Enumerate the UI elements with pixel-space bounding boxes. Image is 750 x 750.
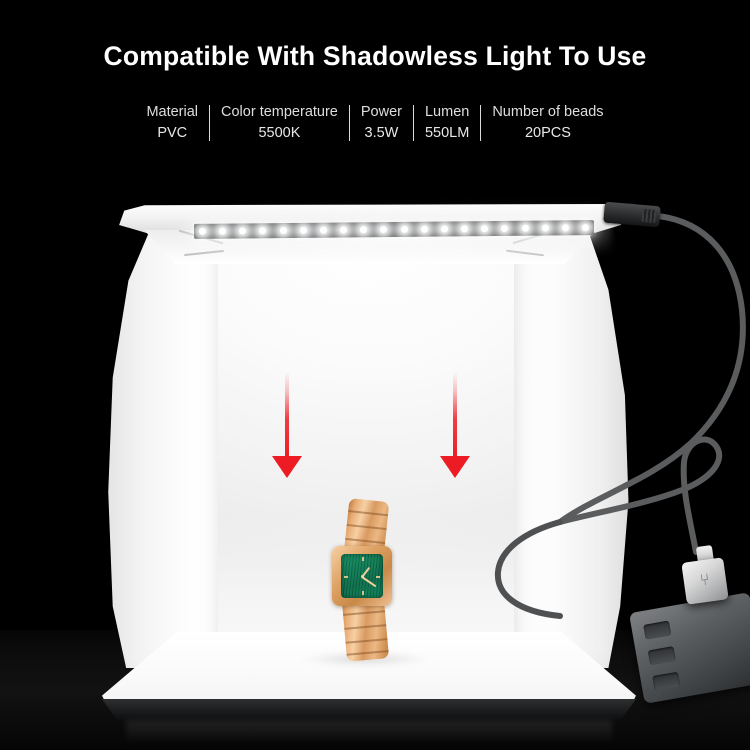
led-bead [300, 227, 307, 234]
spec-divider [480, 105, 481, 141]
led-bead [320, 227, 327, 234]
led-bead [461, 225, 468, 232]
arrow-head [440, 456, 470, 478]
watch-case [332, 546, 392, 606]
spec-value: PVC [146, 123, 198, 144]
light-box-base-edge [102, 699, 636, 721]
led-bead [441, 225, 448, 232]
spec-key: Color temperature [221, 102, 338, 123]
led-bead [421, 226, 428, 233]
led-bead [481, 225, 488, 232]
base-reflection [126, 720, 612, 744]
panel-crease [506, 250, 544, 257]
led-bead [239, 227, 246, 234]
spec-key: Material [146, 102, 198, 123]
spec-divider [349, 105, 350, 141]
power-socket [643, 620, 671, 639]
led-bead [562, 224, 569, 231]
spec-divider [209, 105, 210, 141]
watch-dial [341, 554, 383, 598]
arrow-head [272, 456, 302, 478]
watch-minute-hand [362, 576, 377, 587]
spec-key: Lumen [425, 102, 469, 123]
led-bead [360, 226, 367, 233]
spec-strip: Material PVC Color temperature 5500K Pow… [50, 102, 700, 150]
spec-item-material: Material PVC [135, 102, 209, 143]
led-bead [280, 227, 287, 234]
watch-pivot [361, 575, 364, 578]
product-photo: ⑂ [0, 160, 750, 750]
led-bead [380, 226, 387, 233]
usb-power-adapter: ⑂ [681, 557, 728, 604]
spec-value: 5500K [221, 123, 338, 144]
led-bead [259, 227, 266, 234]
panel-crease [184, 250, 224, 256]
spec-item-number-of-beads: Number of beads 20PCS [481, 102, 614, 143]
spec-value: 550LM [425, 123, 469, 144]
spec-item-lumen: Lumen 550LM [414, 102, 480, 143]
rose-gold-watch [318, 500, 412, 660]
led-bead [199, 228, 206, 235]
led-bead [501, 225, 508, 232]
led-bead [582, 224, 589, 231]
spec-key: Power [361, 102, 402, 123]
power-socket [648, 646, 676, 665]
spec-item-power: Power 3.5W [350, 102, 413, 143]
page-title: Compatible With Shadowless Light To Use [0, 41, 750, 72]
power-socket [652, 672, 680, 691]
light-box-right-panel [514, 228, 632, 668]
spec-value: 3.5W [361, 123, 402, 144]
led-bead [401, 226, 408, 233]
product-marketing-image: Compatible With Shadowless Light To Use … [0, 0, 750, 750]
light-box-left-panel [106, 228, 218, 668]
spec-item-color-temperature: Color temperature 5500K [210, 102, 349, 143]
led-bead [340, 226, 347, 233]
spec-value: 20PCS [492, 123, 603, 144]
led-bead [522, 225, 529, 232]
led-bead [219, 228, 226, 235]
spec-divider [413, 105, 414, 141]
led-bead [542, 225, 549, 232]
spec-key: Number of beads [492, 102, 603, 123]
arrow-shaft [453, 372, 457, 458]
arrow-shaft [285, 372, 289, 458]
usb-icon: ⑂ [699, 572, 711, 589]
